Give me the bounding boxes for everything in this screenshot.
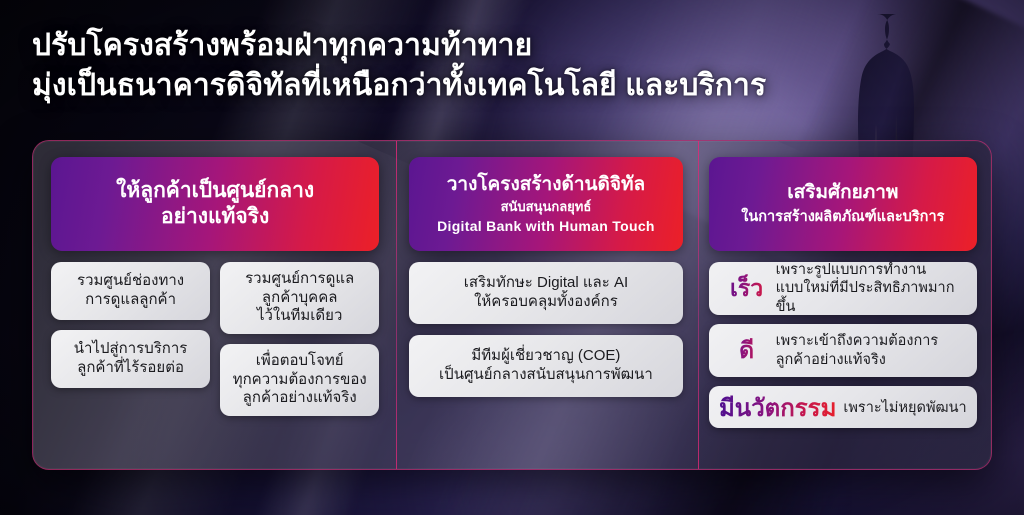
row-text: เพราะเข้าถึงความต้องการ ลูกค้าอย่างแท้จร…	[776, 332, 968, 369]
content-panel: ให้ลูกค้าเป็นศูนย์กลาง อย่างแท้จริง รวมศ…	[32, 140, 992, 470]
box-text: รวมศูนย์การดูแล ลูกค้าบุคคล ไว้ในทีมเดีย…	[245, 270, 354, 327]
keyword-fast: เร็ว	[718, 271, 776, 307]
column-1-header-line-1: ให้ลูกค้าเป็นศูนย์กลาง	[116, 178, 314, 204]
row-text: เพราะรูปแบบการทำงาน แบบใหม่ที่มีประสิทธิ…	[776, 261, 968, 316]
list-item: เสริมทักษะ Digital และ AI ให้ครอบคลุมทั้…	[409, 262, 682, 324]
keyword-innovative: มีนวัตกรรม	[719, 388, 836, 427]
column-3-row-stack: เร็ว เพราะรูปแบบการทำงาน แบบใหม่ที่มีประ…	[709, 262, 977, 428]
box-text: รวมศูนย์ช่องทาง การดูแลลูกค้า	[77, 272, 184, 310]
columns-container: ให้ลูกค้าเป็นศูนย์กลาง อย่างแท้จริง รวมศ…	[33, 141, 991, 469]
box-text: เพื่อตอบโจทย์ ทุกความต้องการของ ลูกค้าอย…	[233, 352, 367, 409]
infographic-stage: ปรับโครงสร้างพร้อมฝ่าทุกความท้าทาย มุ่งเ…	[0, 0, 1024, 515]
headline-line-2: มุ่งเป็นธนาคารดิจิทัลที่เหนือกว่าทั้งเทค…	[32, 66, 862, 106]
column-1-header-line-2: อย่างแท้จริง	[161, 204, 269, 230]
headline-line-1: ปรับโครงสร้างพร้อมฝ่าทุกความท้าทาย	[32, 29, 532, 62]
box-text: เสริมทักษะ Digital และ AI ให้ครอบคลุมทั้…	[464, 274, 628, 312]
column-1-header: ให้ลูกค้าเป็นศูนย์กลาง อย่างแท้จริง	[51, 157, 379, 251]
list-item: เพื่อตอบโจทย์ ทุกความต้องการของ ลูกค้าอย…	[220, 344, 379, 416]
column-2-box-stack: เสริมทักษะ Digital และ AI ให้ครอบคลุมทั้…	[409, 262, 682, 397]
column-1-subcolumn-left: รวมศูนย์ช่องทาง การดูแลลูกค้า นำไปสู่การ…	[51, 262, 210, 416]
column-customer-centric: ให้ลูกค้าเป็นศูนย์กลาง อย่างแท้จริง รวมศ…	[33, 141, 395, 469]
box-text: นำไปสู่การบริการ ลูกค้าที่ไร้รอยต่อ	[74, 340, 188, 378]
list-item: รวมศูนย์การดูแล ลูกค้าบุคคล ไว้ในทีมเดีย…	[220, 262, 379, 334]
list-item: มีทีมผู้เชี่ยวชาญ (COE) เป็นศูนย์กลางสนั…	[409, 335, 682, 397]
box-text: มีทีมผู้เชี่ยวชาญ (COE) เป็นศูนย์กลางสนั…	[439, 347, 653, 385]
column-3-header: เสริมศักยภาพ ในการสร้างผลิตภัณฑ์และบริกา…	[709, 157, 977, 251]
column-2-header-line-1: วางโครงสร้างด้านดิจิทัล	[447, 173, 645, 197]
list-item: นำไปสู่การบริการ ลูกค้าที่ไร้รอยต่อ	[51, 330, 210, 388]
column-1-subcolumn-right: รวมศูนย์การดูแล ลูกค้าบุคคล ไว้ในทีมเดีย…	[220, 262, 379, 416]
column-1-subgrid: รวมศูนย์ช่องทาง การดูแลลูกค้า นำไปสู่การ…	[51, 262, 379, 416]
column-3-header-line-1: เสริมศักยภาพ	[787, 181, 898, 205]
row-text: เพราะไม่หยุดพัฒนา	[843, 396, 966, 419]
column-2-header: วางโครงสร้างด้านดิจิทัล สนับสนุนกลยุทธ์ …	[409, 157, 682, 251]
column-3-header-line-2: ในการสร้างผลิตภัณฑ์และบริการ	[741, 208, 944, 227]
list-item: มีนวัตกรรม เพราะไม่หยุดพัฒนา	[709, 386, 977, 428]
list-item: เร็ว เพราะรูปแบบการทำงาน แบบใหม่ที่มีประ…	[709, 262, 977, 315]
column-2-header-line-2: สนับสนุนกลยุทธ์	[501, 199, 592, 216]
column-digital-infrastructure: วางโครงสร้างด้านดิจิทัล สนับสนุนกลยุทธ์ …	[395, 141, 696, 469]
page-title: ปรับโครงสร้างพร้อมฝ่าทุกความท้าทาย มุ่งเ…	[32, 26, 862, 105]
list-item: ดี เพราะเข้าถึงความต้องการ ลูกค้าอย่างแท…	[709, 324, 977, 377]
column-capability-enhancement: เสริมศักยภาพ ในการสร้างผลิตภัณฑ์และบริกา…	[697, 141, 991, 469]
keyword-good: ดี	[718, 333, 776, 369]
column-2-header-line-3: Digital Bank with Human Touch	[437, 217, 655, 235]
list-item: รวมศูนย์ช่องทาง การดูแลลูกค้า	[51, 262, 210, 320]
